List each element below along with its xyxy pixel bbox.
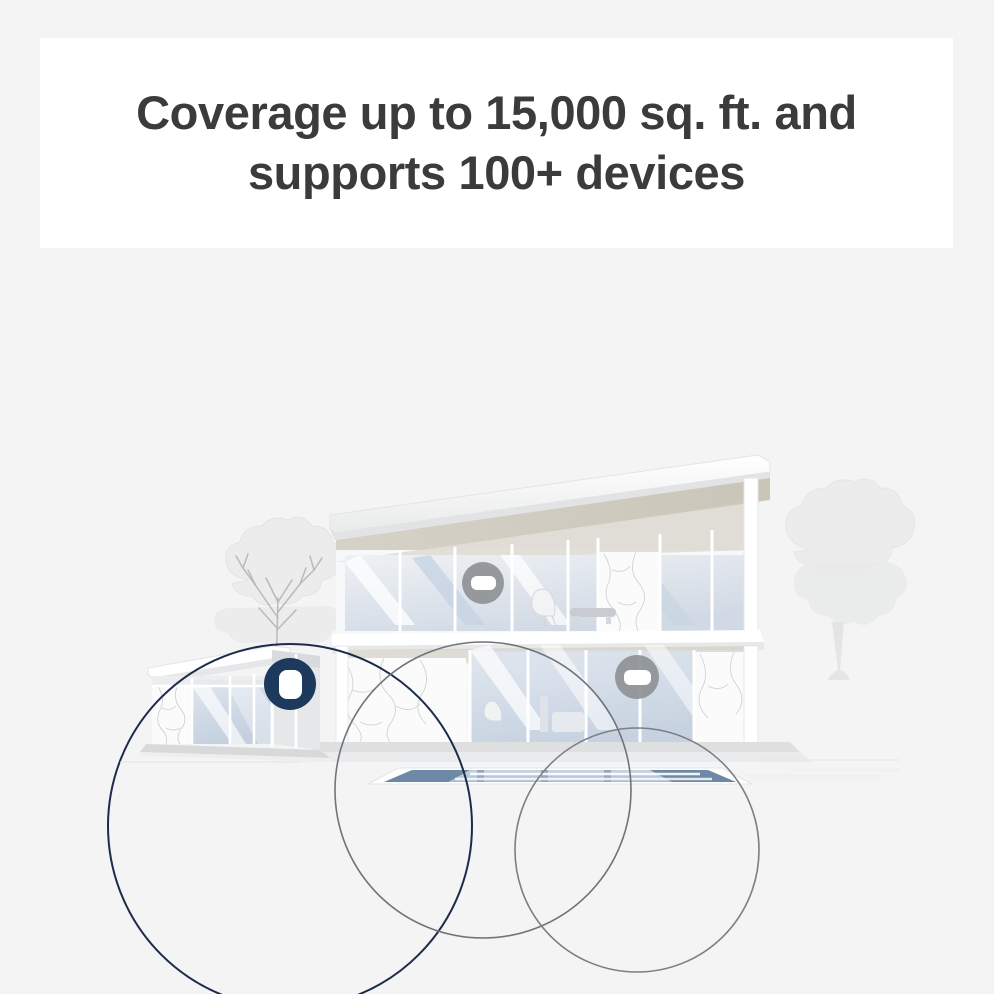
guest-house-marble-panel [152, 684, 190, 744]
tree-right [786, 479, 915, 680]
primary-router-node[interactable] [264, 658, 316, 710]
page-root: Coverage up to 15,000 sq. ft. and suppor… [0, 0, 994, 994]
house-lower-floor [336, 645, 758, 744]
satellite-upper-node[interactable] [462, 562, 504, 604]
satellite-lower-node[interactable] [615, 655, 659, 699]
illustration-svg [0, 250, 994, 994]
house-coverage-illustration [0, 250, 994, 994]
headline-card: Coverage up to 15,000 sq. ft. and suppor… [40, 38, 953, 248]
marble-panel-lower-left [336, 658, 466, 742]
house-right-column [744, 478, 758, 638]
house-left-column [336, 646, 348, 744]
page-title: Coverage up to 15,000 sq. ft. and suppor… [107, 83, 887, 203]
house-right-column-lower [744, 646, 758, 744]
main-house [300, 455, 812, 762]
